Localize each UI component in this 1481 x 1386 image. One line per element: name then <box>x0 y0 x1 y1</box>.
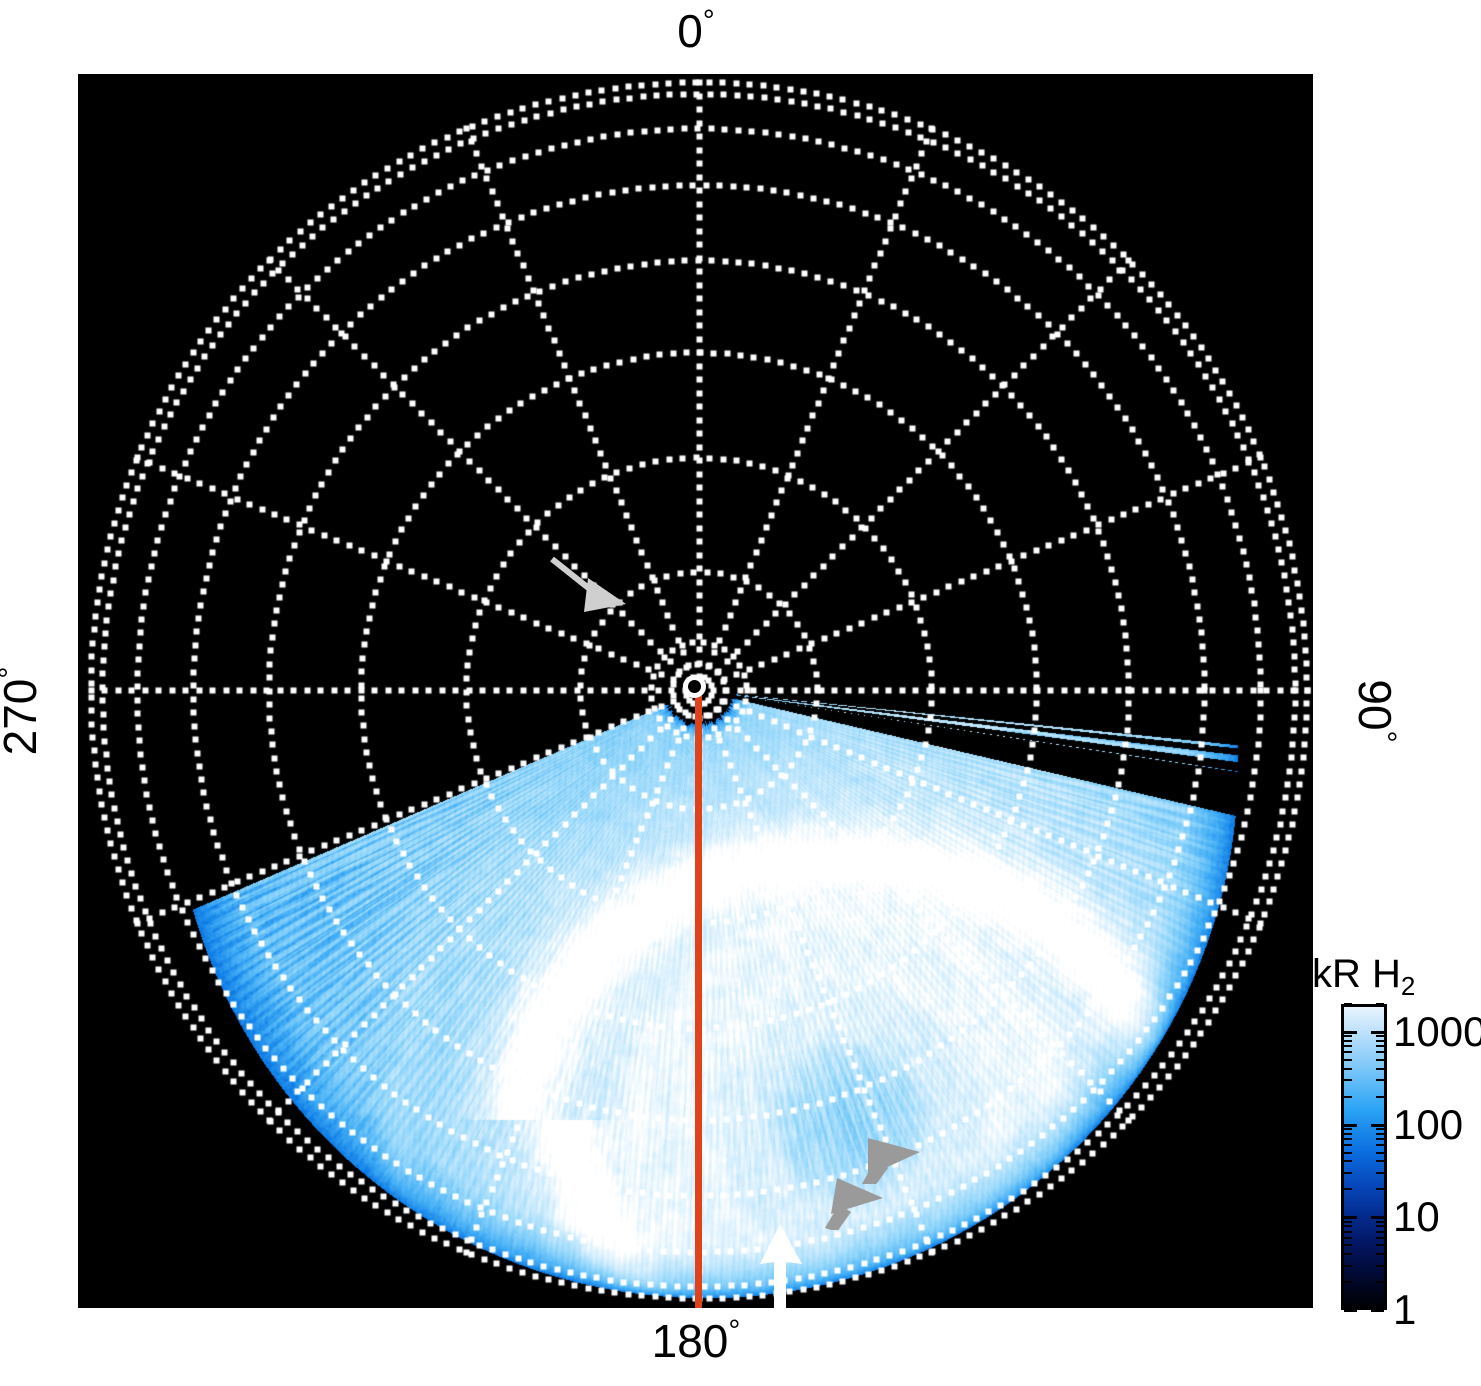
colorbar-tick <box>1344 1237 1352 1239</box>
figure-root: 0° 180° 270° 90° kR H2 1000100101 <box>0 0 1481 1386</box>
colorbar-tick <box>1344 1133 1352 1135</box>
axis-label-left: 270° <box>0 631 43 791</box>
colorbar-ticklabel: 100 <box>1393 1101 1463 1149</box>
colorbar-tick <box>1344 1253 1352 1255</box>
colorbar-tick <box>1376 1231 1384 1233</box>
colorbar-tick <box>1344 1031 1357 1034</box>
colorbar-ticklabel: 10 <box>1393 1193 1440 1241</box>
colorbar-tick <box>1344 1160 1352 1162</box>
colorbar-tick <box>1344 1003 1352 1005</box>
colorbar-tick <box>1344 1188 1352 1190</box>
colorbar-tick <box>1371 1216 1384 1219</box>
colorbar-tick <box>1376 1051 1384 1053</box>
colorbar-tick <box>1376 1188 1384 1190</box>
colorbar-tick <box>1376 1172 1384 1174</box>
colorbar-tick <box>1376 1281 1384 1283</box>
meridian-line <box>695 686 702 1308</box>
colorbar-tick <box>1371 1309 1384 1312</box>
axis-label-right: 90° <box>1352 631 1398 791</box>
colorbar-label: kR H2 <box>1312 952 1415 997</box>
colorbar-tick <box>1376 1128 1384 1130</box>
colorbar-tick <box>1344 1051 1352 1053</box>
colorbar-tick <box>1376 1003 1384 1005</box>
colorbar-tick <box>1344 1281 1352 1283</box>
colorbar-tick <box>1344 1225 1352 1227</box>
colorbar-tick <box>1344 1079 1352 1081</box>
colorbar-tick <box>1376 1244 1384 1246</box>
colorbar-tick <box>1344 1035 1352 1037</box>
colorbar-tick <box>1344 1045 1352 1047</box>
colorbar-tick <box>1371 1124 1384 1127</box>
colorbar-tick <box>1344 1172 1352 1174</box>
axis-label-bottom: 180° <box>0 1318 1392 1364</box>
colorbar-tick <box>1376 1068 1384 1070</box>
colorbar-tick <box>1344 1152 1352 1154</box>
colorbar <box>1341 1004 1387 1310</box>
colorbar-tick <box>1376 1035 1384 1037</box>
colorbar-tick <box>1376 1253 1384 1255</box>
colorbar-tick <box>1344 1231 1352 1233</box>
colorbar-ticklabel: 1 <box>1393 1286 1416 1334</box>
colorbar-tick <box>1376 1138 1384 1140</box>
colorbar-tick <box>1344 1040 1352 1042</box>
colorbar-tick <box>1371 1031 1384 1034</box>
polar-plot-area <box>78 74 1313 1308</box>
colorbar-tick <box>1376 1160 1384 1162</box>
colorbar-tick <box>1344 1068 1352 1070</box>
colorbar-tick <box>1376 1237 1384 1239</box>
colorbar-tick <box>1376 1045 1384 1047</box>
colorbar-tick <box>1344 1124 1357 1127</box>
colorbar-tick <box>1344 1096 1352 1098</box>
colorbar-tick <box>1376 1265 1384 1267</box>
colorbar-tick <box>1344 1221 1352 1223</box>
colorbar-tick <box>1344 1128 1352 1130</box>
colorbar-tick <box>1376 1040 1384 1042</box>
colorbar-tick <box>1376 1221 1384 1223</box>
colorbar-tick <box>1344 1059 1352 1061</box>
colorbar-tick <box>1344 1216 1357 1219</box>
colorbar-tick <box>1376 1133 1384 1135</box>
colorbar-tick <box>1376 1144 1384 1146</box>
colorbar-tick <box>1376 1225 1384 1227</box>
axis-label-top: 0° <box>0 8 1392 54</box>
colorbar-tick <box>1344 1265 1352 1267</box>
colorbar-tick <box>1344 1144 1352 1146</box>
colorbar-tick <box>1376 1059 1384 1061</box>
colorbar-ticklabel: 1000 <box>1393 1008 1481 1056</box>
colorbar-tick <box>1344 1309 1357 1312</box>
colorbar-tick <box>1344 1244 1352 1246</box>
colorbar-tick <box>1344 1138 1352 1140</box>
pole-marker-icon <box>683 675 706 698</box>
colorbar-tick <box>1376 1079 1384 1081</box>
colorbar-tick <box>1376 1096 1384 1098</box>
colorbar-tick <box>1376 1152 1384 1154</box>
